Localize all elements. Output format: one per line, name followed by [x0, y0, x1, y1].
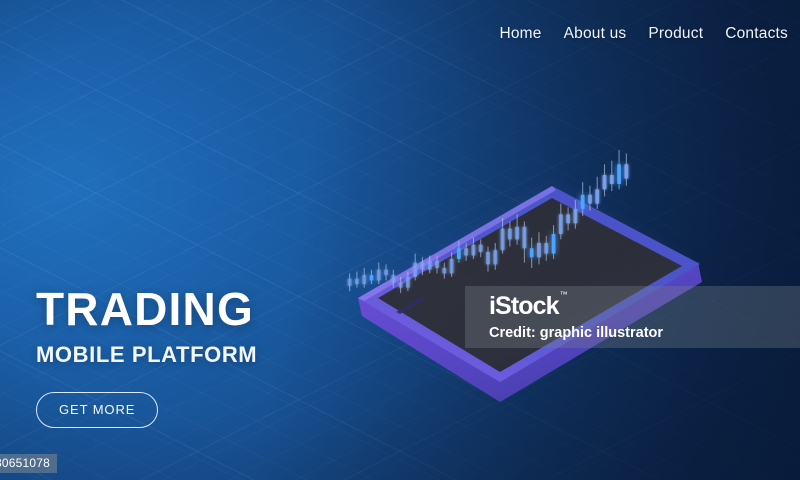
candle-body: [508, 229, 512, 240]
candle: [406, 272, 410, 292]
candle-body: [479, 245, 483, 252]
page-subtitle: MOBILE PLATFORM: [36, 344, 257, 366]
candle-body: [595, 189, 599, 203]
candle-body: [450, 259, 454, 273]
landing-page: Home About us Product Contacts: [0, 0, 800, 480]
candle: [362, 268, 366, 288]
candle: [624, 154, 628, 186]
candle-body: [617, 164, 621, 184]
candle: [493, 243, 497, 270]
candle-body: [362, 275, 366, 284]
candle-body: [413, 263, 417, 277]
candle-body: [493, 250, 497, 264]
candle: [348, 273, 352, 291]
candle: [472, 238, 476, 259]
candle: [479, 239, 483, 257]
candle: [603, 164, 607, 196]
candle: [537, 232, 541, 264]
candle-body: [624, 164, 628, 178]
candle-body: [523, 227, 527, 248]
candle-body: [588, 195, 592, 204]
candlestick-chart: [340, 138, 640, 298]
main-navigation: Home About us Product Contacts: [499, 25, 788, 43]
candle-body: [566, 214, 570, 223]
candle-series: [348, 150, 629, 293]
candle: [610, 161, 614, 191]
candle: [486, 247, 490, 272]
candle-body: [406, 277, 410, 288]
istock-logo: iStock ™: [489, 294, 559, 319]
candle: [399, 277, 403, 293]
candle-body: [552, 234, 556, 254]
candle: [508, 222, 512, 247]
trademark-icon: ™: [560, 291, 568, 299]
candle-body: [486, 252, 490, 265]
candle: [391, 270, 395, 288]
get-more-button[interactable]: GET MORE: [36, 392, 158, 428]
candle: [559, 204, 563, 240]
candle-body: [464, 248, 468, 255]
candle: [515, 214, 519, 244]
candle-body: [530, 248, 534, 257]
candle: [530, 238, 534, 268]
candle-body: [377, 270, 381, 281]
nav-item-about-us[interactable]: About us: [564, 25, 627, 43]
candle-body: [537, 243, 541, 257]
istock-logo-text: iStock: [489, 292, 559, 320]
candle-body: [515, 227, 519, 240]
candle-body: [472, 245, 476, 256]
candle-body: [428, 261, 432, 270]
candle-body: [603, 175, 607, 189]
candle: [588, 186, 592, 211]
asset-id-badge: 30651078: [0, 454, 57, 473]
candle-body: [370, 275, 374, 280]
candle: [421, 257, 425, 275]
candle: [413, 254, 417, 281]
candle: [377, 263, 381, 284]
candle: [573, 200, 577, 229]
candle: [566, 207, 570, 230]
candle-body: [544, 243, 548, 254]
candle: [595, 177, 599, 209]
nav-item-contacts[interactable]: Contacts: [725, 25, 788, 43]
candle-body: [559, 214, 563, 234]
candle: [523, 222, 527, 263]
hero-block: TRADING MOBILE PLATFORM GET MORE: [36, 286, 257, 428]
candle-body: [501, 229, 505, 250]
candle: [442, 263, 446, 279]
candle: [370, 270, 374, 284]
candle: [355, 272, 359, 288]
nav-item-product[interactable]: Product: [648, 25, 703, 43]
candle: [384, 264, 388, 280]
candle: [428, 255, 432, 273]
candle: [501, 218, 505, 254]
candle-body: [581, 195, 585, 209]
candle-body: [355, 279, 359, 284]
page-title: TRADING: [36, 286, 257, 332]
watermark-credit: Credit: graphic illustrator: [489, 326, 800, 341]
nav-item-home[interactable]: Home: [499, 25, 541, 43]
candle-body: [384, 270, 388, 275]
candle: [617, 150, 621, 189]
candle-body: [399, 282, 403, 287]
candle-body: [391, 275, 395, 282]
candle: [544, 236, 548, 261]
candle: [464, 243, 468, 261]
istock-watermark: iStock ™ Credit: graphic illustrator: [465, 286, 800, 348]
candle: [450, 252, 454, 277]
candle-body: [348, 279, 352, 286]
candle-body: [435, 261, 439, 268]
candle-body: [573, 209, 577, 223]
candle-body: [610, 175, 614, 184]
candle-body: [421, 263, 425, 270]
candle: [581, 182, 585, 216]
candle: [552, 225, 556, 259]
candle: [457, 241, 461, 262]
candle: [435, 255, 439, 273]
candle-body: [442, 268, 446, 273]
candle-body: [457, 248, 461, 259]
